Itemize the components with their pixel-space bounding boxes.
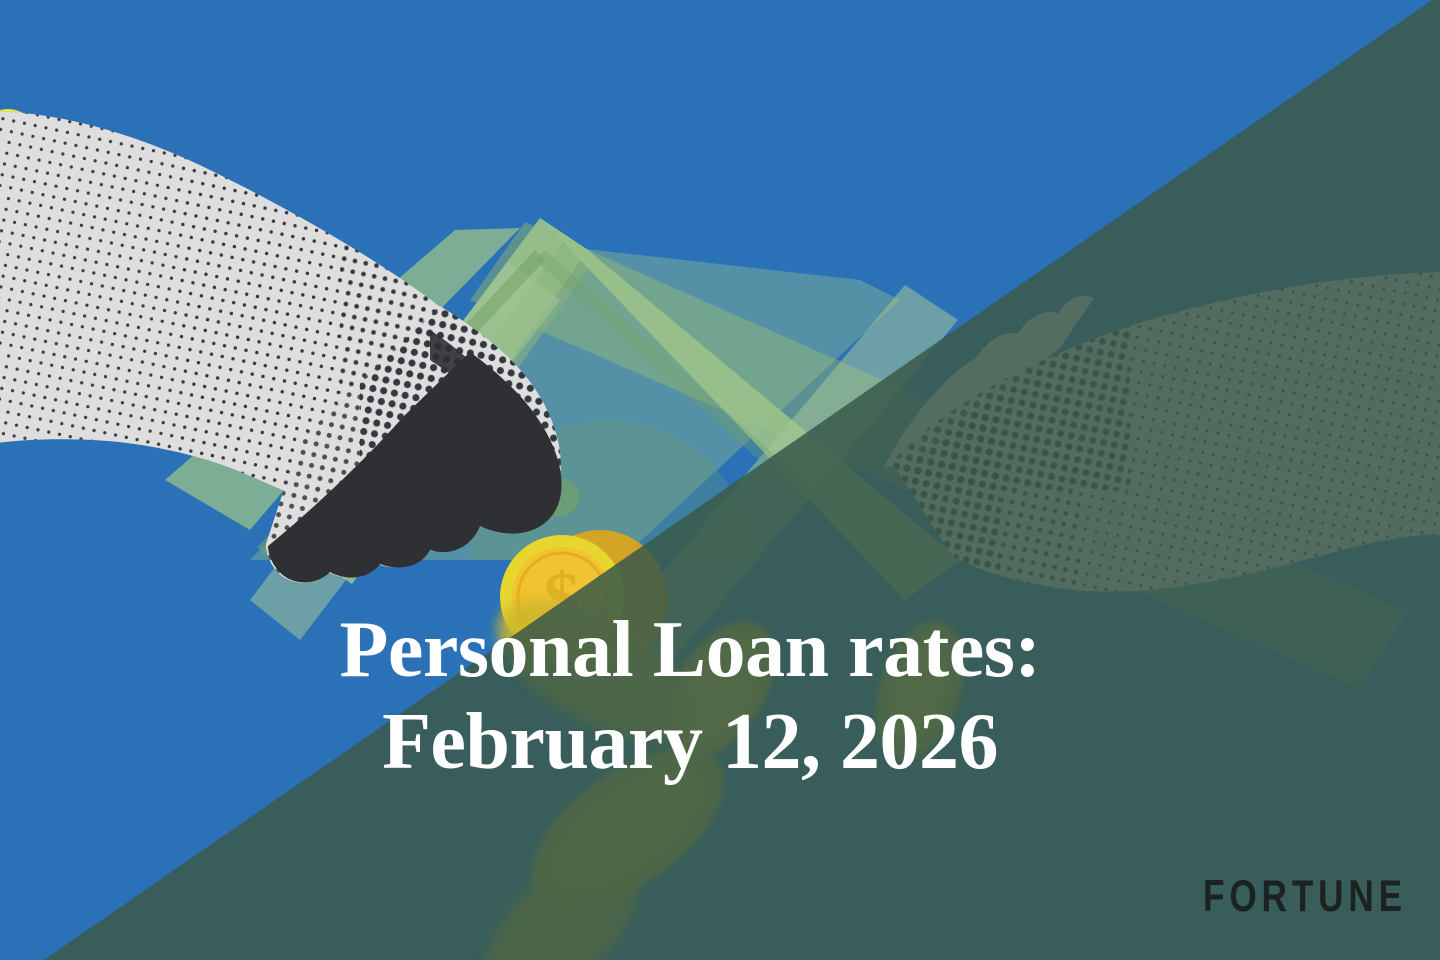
fortune-logo[interactable]: FORTUNE (1203, 874, 1407, 919)
hero-image-canvas: $ (0, 0, 1440, 960)
illustration-artboard: $ (0, 0, 1440, 960)
